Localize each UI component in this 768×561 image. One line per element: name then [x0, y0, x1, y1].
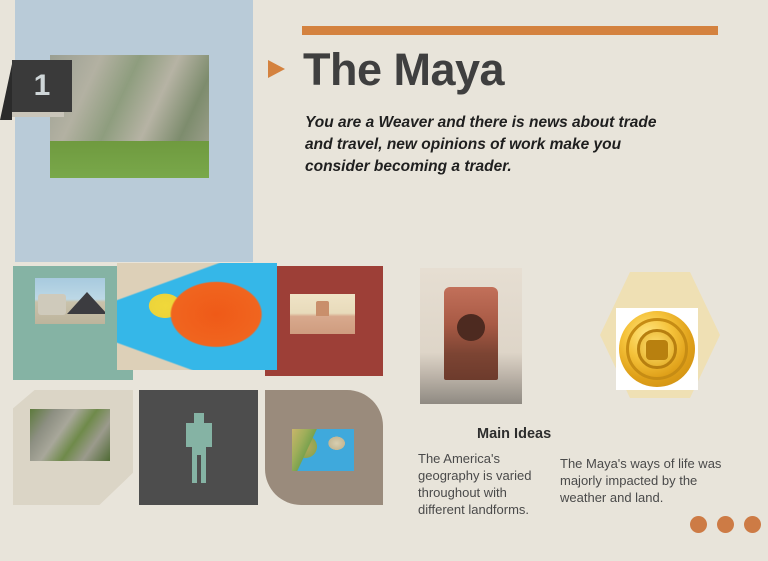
arrow-right-icon [268, 60, 285, 78]
maya-calendar-disc [616, 308, 698, 390]
badge-fold-icon [0, 64, 12, 120]
slide-subtitle: You are a Weaver and there is news about… [305, 112, 685, 178]
person-icon [179, 413, 219, 483]
mesoamerica-relief-map [292, 429, 354, 471]
decorative-dots [690, 516, 761, 533]
maya-city-illustration-fill [290, 294, 355, 334]
maya-ruins-aerial-photo-fill [30, 409, 110, 461]
slide-number-badge: 1 [0, 60, 72, 122]
maya-stone-carving-photo-fill [420, 268, 522, 404]
maya-territory-map-fill [117, 263, 277, 370]
calendar-center-face [646, 340, 667, 360]
dot-2 [717, 516, 734, 533]
badge-shadow [12, 112, 64, 117]
maya-ruins-photo-fill [50, 55, 209, 178]
maya-territory-map [117, 263, 277, 370]
chichen-itza-pyramid-photo [35, 278, 105, 324]
maya-city-illustration [290, 294, 355, 334]
main-idea-left: The America's geography is varied throug… [418, 450, 543, 519]
slide-canvas: 1 The Maya You are a Weaver and there is… [0, 0, 768, 561]
maya-stone-carving-photo [420, 268, 522, 404]
maya-calendar-disc-fill [619, 311, 695, 387]
maya-ruins-photo [50, 55, 209, 178]
badge-number-label: 1 [12, 60, 72, 112]
main-ideas-heading: Main Ideas [477, 426, 551, 442]
dot-3 [744, 516, 761, 533]
main-idea-right: The Maya's ways of life was majorly impa… [560, 455, 725, 506]
dot-1 [690, 516, 707, 533]
header-accent-bar [302, 26, 718, 35]
mesoamerica-relief-map-fill [292, 429, 354, 471]
chichen-itza-pyramid-photo-fill [35, 278, 105, 324]
page-title: The Maya [303, 44, 504, 96]
maya-ruins-aerial-photo [30, 409, 110, 461]
